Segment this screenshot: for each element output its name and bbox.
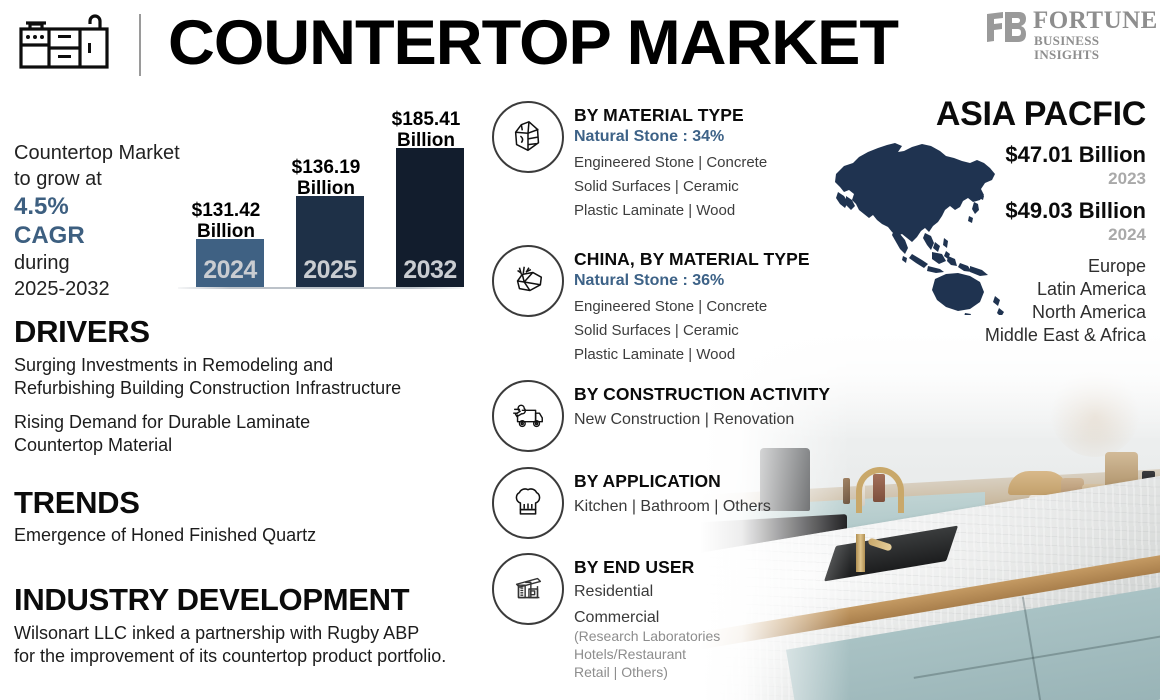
raw-mineral-icon <box>492 245 564 317</box>
bar-2032: 2032 <box>396 148 464 287</box>
kitchen-cabinet-icon <box>12 12 116 74</box>
segment-title: CHINA, BY MATERIAL TYPE <box>574 249 810 270</box>
drivers-heading: DRIVERS <box>14 315 150 349</box>
fb-monogram-icon <box>985 10 1027 44</box>
region-title: ASIA PACFIC <box>936 94 1146 134</box>
drivers-paragraph-1: Surging Investments in Remodeling and Re… <box>14 354 401 400</box>
industry-development-heading: INDUSTRY DEVELOPMENT <box>14 583 409 617</box>
other-region-latin-america: Latin America <box>1037 278 1146 301</box>
segment-line: Engineered Stone | Concrete <box>574 297 767 316</box>
segment-line: (Research Laboratories <box>574 627 720 645</box>
segment-line: Hotels/Restaurant <box>574 645 686 663</box>
apac-value-2023: $47.01 Billion <box>1005 142 1146 168</box>
segment-line: Engineered Stone | Concrete <box>574 153 767 172</box>
other-region-north-america: North America <box>1032 301 1146 324</box>
segment-line: Kitchen | Bathroom | Others <box>574 497 771 516</box>
segment-line: Plastic Laminate | Wood <box>574 345 735 364</box>
segment-line: Residential <box>574 582 653 601</box>
growth-line-1: Countertop Market <box>14 140 194 166</box>
segment-title: BY END USER <box>574 557 694 578</box>
segment-line: Solid Surfaces | Ceramic <box>574 321 739 340</box>
other-region-europe: Europe <box>1088 255 1146 278</box>
bar-2024: 2024 <box>196 239 264 287</box>
drivers-paragraph-2: Rising Demand for Durable Laminate Count… <box>14 411 310 457</box>
infographic-canvas: COUNTERTOP MARKET FORTUNE BUSINESS INSIG… <box>0 0 1160 700</box>
segment-title: BY CONSTRUCTION ACTIVITY <box>574 384 830 405</box>
trends-paragraph-1: Emergence of Honed Finished Quartz <box>14 524 316 547</box>
apac-value-2024: $49.03 Billion <box>1005 198 1146 224</box>
apac-year-2024: 2024 <box>1108 225 1146 245</box>
asia-pacific-map <box>832 130 1012 315</box>
segment-line: New Construction | Renovation <box>574 410 794 429</box>
cagr-value: 4.5% <box>14 192 194 221</box>
bar-value-2024: $131.42 Billion <box>170 200 282 242</box>
chef-hat-icon <box>492 467 564 539</box>
construction-truck-icon <box>492 380 564 452</box>
chart-baseline <box>178 287 463 289</box>
trends-heading: TRENDS <box>14 486 140 520</box>
bar-label-2032: 2032 <box>396 256 464 285</box>
bar-value-2032: $185.41 Billion <box>370 109 482 151</box>
growth-statement: Countertop Market to grow at 4.5% CAGR d… <box>14 140 194 302</box>
segment-title: BY MATERIAL TYPE <box>574 105 744 126</box>
market-size-bar-chart: $131.42 Billion 2024 $136.19 Billion 202… <box>178 100 463 295</box>
growth-line-2: to grow at <box>14 166 194 192</box>
building-icon <box>492 553 564 625</box>
segment-line: Solid Surfaces | Ceramic <box>574 177 739 196</box>
fortune-business-insights-logo: FORTUNE BUSINESS INSIGHTS <box>985 8 1150 52</box>
bar-2025: 2025 <box>296 196 364 287</box>
logo-text-secondary: BUSINESS INSIGHTS <box>1034 34 1150 62</box>
segment-highlight: Natural Stone : 34% <box>574 128 724 146</box>
bar-value-2025: $136.19 Billion <box>270 157 382 199</box>
growth-period: 2025-2032 <box>14 276 194 302</box>
bar-label-2024: 2024 <box>196 256 264 285</box>
growth-line-3: during <box>14 250 194 276</box>
segment-title: BY APPLICATION <box>574 471 721 492</box>
bar-label-2025: 2025 <box>296 256 364 285</box>
segment-line: Retail | Others) <box>574 663 668 681</box>
industry-development-paragraph: Wilsonart LLC inked a partnership with R… <box>14 622 446 668</box>
cagr-label: CAGR <box>14 221 194 250</box>
segment-line: Commercial <box>574 608 659 627</box>
segment-line: Plastic Laminate | Wood <box>574 201 735 220</box>
apac-year-2023: 2023 <box>1108 169 1146 189</box>
header-divider <box>139 14 141 76</box>
page-title: COUNTERTOP MARKET <box>168 4 898 82</box>
logo-text-primary: FORTUNE <box>1033 8 1158 33</box>
gemstone-icon <box>492 101 564 173</box>
segment-highlight: Natural Stone : 36% <box>574 272 724 290</box>
header: COUNTERTOP MARKET FORTUNE BUSINESS INSIG… <box>0 0 1160 88</box>
other-region-middle-east-africa: Middle East & Africa <box>985 324 1146 347</box>
